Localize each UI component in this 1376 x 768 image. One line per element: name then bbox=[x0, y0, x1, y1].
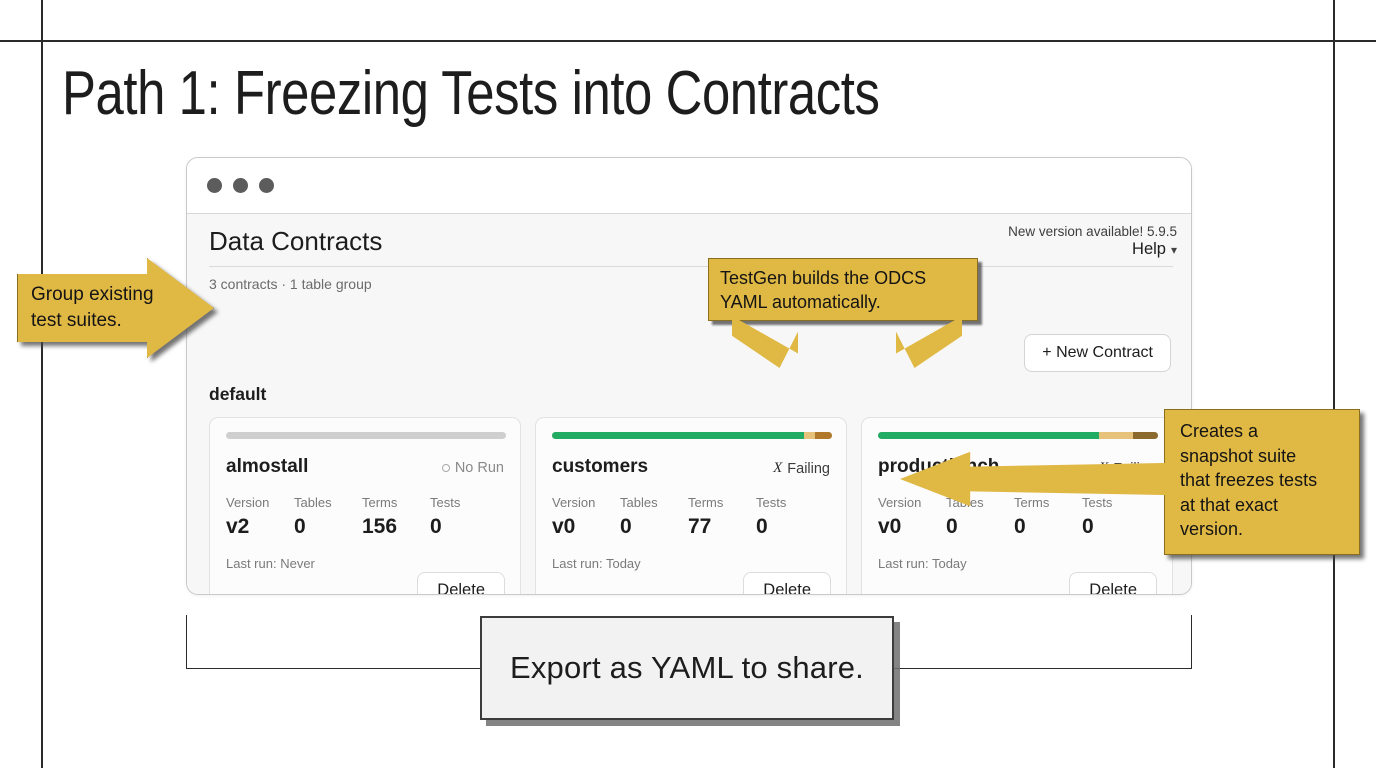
callout-left-text: Group existing test suites. bbox=[31, 282, 154, 334]
metric-label: Tables bbox=[294, 495, 362, 510]
callout-right-line3: that freezes tests bbox=[1180, 468, 1317, 493]
contract-progress-bar bbox=[552, 432, 832, 439]
metric-value: 77 bbox=[688, 515, 756, 539]
window-minimize-dot-icon[interactable] bbox=[233, 178, 248, 193]
metric-value: v0 bbox=[878, 515, 946, 539]
callout-right-line1: Creates a bbox=[1180, 419, 1317, 444]
slide-canvas: Path 1: Freezing Tests into Contracts Ne… bbox=[0, 0, 1376, 768]
guide-line-vertical-left bbox=[41, 0, 43, 768]
new-contract-button[interactable]: + New Contract bbox=[1024, 334, 1171, 372]
metric-label: Tests bbox=[756, 495, 824, 510]
metric-value: v2 bbox=[226, 515, 294, 539]
callout-center-line1: TestGen builds the ODCS bbox=[720, 266, 976, 290]
callout-left-arrow: Group existing test suites. bbox=[17, 258, 214, 358]
status-label: No Run bbox=[455, 460, 504, 476]
metric-label: Tests bbox=[1082, 495, 1150, 510]
progress-segment bbox=[1133, 432, 1158, 439]
version-available-note: New version available! 5.9.5 bbox=[1008, 222, 1177, 241]
bottom-callout-text: Export as YAML to share. bbox=[510, 650, 864, 686]
metric-value: 0 bbox=[1082, 515, 1150, 539]
metric-label: Version bbox=[226, 495, 294, 510]
contract-name: almostall bbox=[226, 456, 308, 478]
window-close-dot-icon[interactable] bbox=[207, 178, 222, 193]
status-badge: No Run bbox=[442, 460, 504, 476]
last-run-label: Last run: Today bbox=[552, 556, 830, 571]
delete-button[interactable]: Delete bbox=[743, 572, 831, 595]
callout-center: TestGen builds the ODCS YAML automatical… bbox=[708, 258, 986, 368]
callout-right-line4: at that exact bbox=[1180, 493, 1317, 518]
metric-tables: Tables0 bbox=[294, 495, 362, 539]
metric-version: Versionv2 bbox=[226, 495, 294, 539]
callout-center-arrow-left-icon bbox=[732, 316, 798, 368]
callout-center-line2: YAML automatically. bbox=[720, 290, 976, 314]
callout-right-line5: version. bbox=[1180, 517, 1317, 542]
contract-card-header: almostallNo Run bbox=[226, 456, 504, 478]
table-group-label: default bbox=[209, 384, 266, 405]
window-traffic-lights bbox=[207, 178, 274, 193]
help-menu[interactable]: Help ▾ bbox=[1132, 240, 1177, 259]
metric-tests: Tests0 bbox=[756, 495, 824, 539]
bottom-callout-box: Export as YAML to share. bbox=[480, 616, 894, 720]
contract-metrics: Versionv2Tables0Terms156Tests0 bbox=[226, 495, 504, 539]
metric-label: Terms bbox=[688, 495, 756, 510]
progress-segment bbox=[226, 432, 506, 439]
metric-terms: Terms0 bbox=[1014, 495, 1082, 539]
title-divider bbox=[209, 266, 1173, 267]
metric-tables: Tables0 bbox=[946, 495, 1014, 539]
callout-center-arrow-right-icon bbox=[896, 316, 962, 368]
app-body: New version available! 5.9.5 Help ▾ Data… bbox=[187, 214, 1191, 594]
metric-version: Versionv0 bbox=[878, 495, 946, 539]
callout-left-line1: Group existing bbox=[31, 282, 154, 308]
guide-line-vertical-right bbox=[1333, 0, 1335, 768]
metric-tests: Tests0 bbox=[1082, 495, 1150, 539]
metric-terms: Terms77 bbox=[688, 495, 756, 539]
metric-label: Tables bbox=[620, 495, 688, 510]
callout-right: Creates a snapshot suite that freezes te… bbox=[1164, 409, 1360, 555]
metric-value: 0 bbox=[1014, 515, 1082, 539]
contract-card[interactable]: customersXFailingVersionv0Tables0Terms77… bbox=[535, 417, 847, 595]
metric-value: v0 bbox=[552, 515, 620, 539]
metric-value: 0 bbox=[430, 515, 498, 539]
progress-segment bbox=[552, 432, 804, 439]
page-title: Data Contracts bbox=[209, 226, 382, 257]
contract-name: customers bbox=[552, 456, 648, 478]
contract-metrics: Versionv0Tables0Terms0Tests0 bbox=[878, 495, 1156, 539]
progress-segment bbox=[804, 432, 815, 439]
metric-value: 0 bbox=[756, 515, 824, 539]
last-run-label: Last run: Today bbox=[878, 556, 1156, 571]
progress-segment bbox=[815, 432, 832, 439]
metric-label: Version bbox=[552, 495, 620, 510]
contract-card-list: almostallNo RunVersionv2Tables0Terms156T… bbox=[209, 417, 1173, 595]
delete-button[interactable]: Delete bbox=[1069, 572, 1157, 595]
contracts-count-label: 3 contracts · 1 table group bbox=[209, 276, 372, 292]
chevron-down-icon: ▾ bbox=[1171, 243, 1177, 257]
metric-tables: Tables0 bbox=[620, 495, 688, 539]
callout-right-text: Creates a snapshot suite that freezes te… bbox=[1180, 419, 1317, 542]
contract-metrics: Versionv0Tables0Terms77Tests0 bbox=[552, 495, 830, 539]
metric-value: 156 bbox=[362, 515, 430, 539]
callout-left-line2: test suites. bbox=[31, 308, 154, 334]
app-window: New version available! 5.9.5 Help ▾ Data… bbox=[186, 157, 1192, 595]
metric-terms: Terms156 bbox=[362, 495, 430, 539]
window-maximize-dot-icon[interactable] bbox=[259, 178, 274, 193]
metric-label: Terms bbox=[1014, 495, 1082, 510]
progress-segment bbox=[878, 432, 1099, 439]
last-run-label: Last run: Never bbox=[226, 556, 504, 571]
contract-card-header: customersXFailing bbox=[552, 456, 830, 478]
circle-outline-icon bbox=[442, 464, 450, 472]
callout-center-text: TestGen builds the ODCS YAML automatical… bbox=[720, 266, 976, 314]
callout-right-line2: snapshot suite bbox=[1180, 444, 1317, 469]
guide-line-horizontal bbox=[0, 40, 1376, 42]
progress-segment bbox=[1099, 432, 1133, 439]
metric-value: 0 bbox=[294, 515, 362, 539]
slide-title: Path 1: Freezing Tests into Contracts bbox=[62, 52, 880, 136]
metric-tests: Tests0 bbox=[430, 495, 498, 539]
x-mark-icon: X bbox=[773, 460, 782, 477]
contract-progress-bar bbox=[878, 432, 1158, 439]
contract-progress-bar bbox=[226, 432, 506, 439]
metric-label: Tests bbox=[430, 495, 498, 510]
window-titlebar bbox=[187, 158, 1191, 214]
contract-card[interactable]: productlunchXFailingVersionv0Tables0Term… bbox=[861, 417, 1173, 595]
contract-card[interactable]: almostallNo RunVersionv2Tables0Terms156T… bbox=[209, 417, 521, 595]
metric-version: Versionv0 bbox=[552, 495, 620, 539]
delete-button[interactable]: Delete bbox=[417, 572, 505, 595]
metric-value: 0 bbox=[620, 515, 688, 539]
metric-value: 0 bbox=[946, 515, 1014, 539]
metric-label: Version bbox=[878, 495, 946, 510]
status-badge: XFailing bbox=[773, 460, 830, 477]
status-label: Failing bbox=[787, 461, 830, 477]
metric-label: Terms bbox=[362, 495, 430, 510]
help-label: Help bbox=[1132, 240, 1166, 259]
